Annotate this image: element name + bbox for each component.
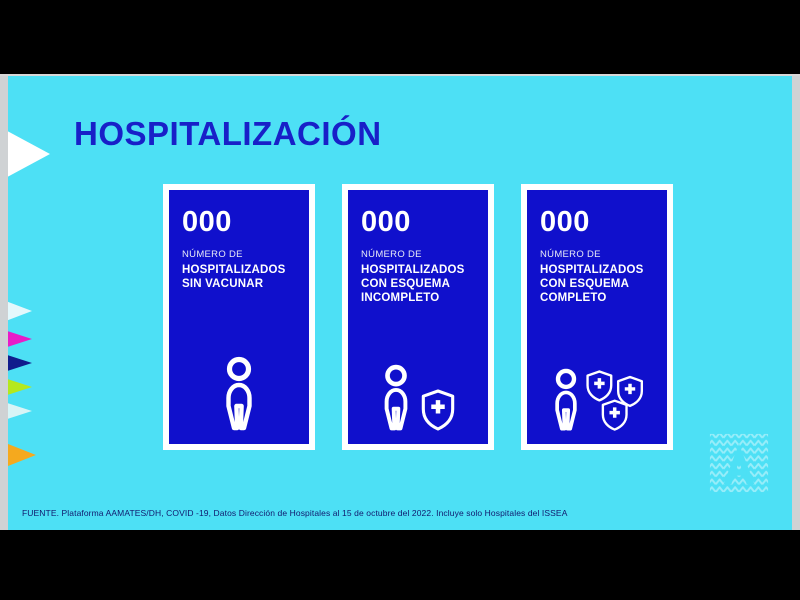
stat-value: 000 xyxy=(361,208,475,237)
shield-cross-icon xyxy=(419,388,457,432)
slide-right-edge xyxy=(792,76,800,530)
stat-kicker: NÚMERO DE xyxy=(361,250,475,261)
chevron-pale-2 xyxy=(8,400,32,422)
shield-cross-icon xyxy=(618,377,642,406)
chevron-white-large xyxy=(8,126,50,182)
person-icon xyxy=(220,356,258,432)
chevron-pale-1 xyxy=(8,298,32,324)
stats-card-row: 000 NÚMERO DE HOSPITALIZADOS SIN VACUNAR xyxy=(163,184,673,450)
page-title: HOSPITALIZACIÓN xyxy=(74,115,382,153)
stat-label-line-2: SIN VACUNAR xyxy=(182,277,296,291)
stat-label-line-1: HOSPITALIZADOS xyxy=(540,263,654,277)
stat-value: 000 xyxy=(182,208,296,237)
chevron-navy xyxy=(8,352,32,374)
letterbox-bottom xyxy=(0,532,800,600)
stat-card-unvaccinated[interactable]: 000 NÚMERO DE HOSPITALIZADOS SIN VACUNAR xyxy=(163,184,315,450)
stat-kicker: NÚMERO DE xyxy=(182,250,296,261)
chevron-magenta xyxy=(8,328,32,350)
stat-label-line-3: COMPLETO xyxy=(540,291,654,305)
stat-card-body: 000 NÚMERO DE HOSPITALIZADOS CON ESQUEMA… xyxy=(527,190,667,444)
chevron-decoration-strip xyxy=(8,76,64,530)
stat-card-body: 000 NÚMERO DE HOSPITALIZADOS SIN VACUNAR xyxy=(169,190,309,444)
issea-a-logo-watermark xyxy=(708,432,770,494)
stat-label-line-1: HOSPITALIZADOS xyxy=(182,263,296,277)
shield-cross-icon-group xyxy=(584,368,644,432)
shield-cross-icon xyxy=(603,401,627,430)
presentation-slide: HOSPITALIZACIÓN 000 NÚMERO DE HOSPITALIZ… xyxy=(8,76,792,530)
stat-card-artwork xyxy=(169,344,309,432)
screenshot-viewport: HOSPITALIZACIÓN 000 NÚMERO DE HOSPITALIZ… xyxy=(0,0,800,600)
chevron-orange xyxy=(8,440,36,470)
stat-card-complete-scheme[interactable]: 000 NÚMERO DE HOSPITALIZADOS CON ESQUEMA… xyxy=(521,184,673,450)
stat-label-line-2: CON ESQUEMA xyxy=(540,277,654,291)
source-footnote: FUENTE. Plataforma AAMATES/DH, COVID -19… xyxy=(22,508,567,518)
shield-cross-icon xyxy=(588,371,612,400)
chevron-lime xyxy=(8,376,32,398)
stat-label: HOSPITALIZADOS SIN VACUNAR xyxy=(182,263,296,291)
stat-card-incomplete-scheme[interactable]: 000 NÚMERO DE HOSPITALIZADOS CON ESQUEMA… xyxy=(342,184,494,450)
stat-value: 000 xyxy=(540,208,654,237)
stat-label-line-3: INCOMPLETO xyxy=(361,291,475,305)
stat-card-artwork xyxy=(348,344,488,432)
stat-label-line-2: CON ESQUEMA xyxy=(361,277,475,291)
letterbox-top xyxy=(0,0,800,74)
slide-left-edge xyxy=(0,76,8,530)
stat-label-line-1: HOSPITALIZADOS xyxy=(361,263,475,277)
person-icon xyxy=(379,364,413,432)
stat-card-artwork xyxy=(527,344,667,432)
person-icon xyxy=(550,368,582,432)
stat-kicker: NÚMERO DE xyxy=(540,250,654,261)
stat-card-body: 000 NÚMERO DE HOSPITALIZADOS CON ESQUEMA… xyxy=(348,190,488,444)
stat-label: HOSPITALIZADOS CON ESQUEMA COMPLETO xyxy=(540,263,654,305)
stat-label: HOSPITALIZADOS CON ESQUEMA INCOMPLETO xyxy=(361,263,475,305)
